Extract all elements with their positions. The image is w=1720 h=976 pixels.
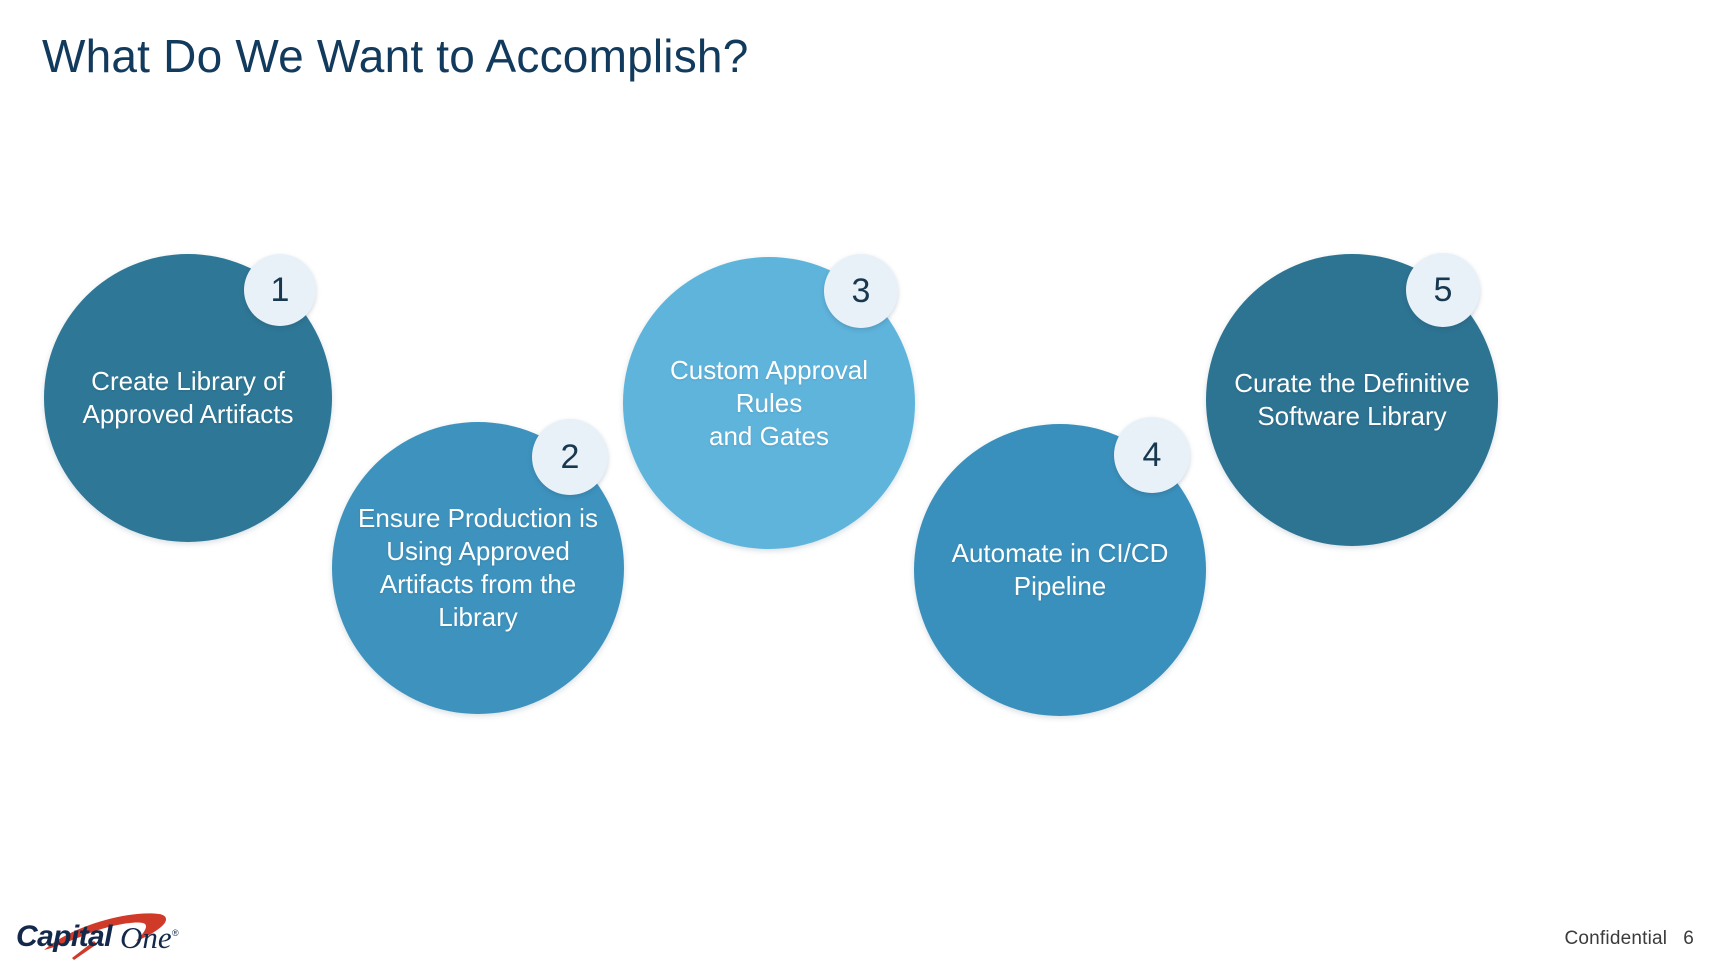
node-2-badge-number: 2 bbox=[561, 438, 580, 477]
node-3-badge-number: 3 bbox=[852, 272, 871, 311]
capital-one-logo: Capital One ® bbox=[14, 900, 214, 962]
diagram-node-2[interactable]: Ensure Production isUsing ApprovedArtifa… bbox=[332, 422, 624, 714]
node-5-badge: 5 bbox=[1406, 253, 1480, 327]
diagram-node-4[interactable]: Automate in CI/CDPipeline 4 bbox=[914, 424, 1206, 716]
numbered-circle-diagram: Create Library ofApproved Artifacts 1 En… bbox=[0, 0, 1720, 880]
svg-text:®: ® bbox=[172, 928, 179, 938]
diagram-node-5[interactable]: Curate the DefinitiveSoftware Library 5 bbox=[1206, 254, 1498, 546]
svg-text:Capital: Capital bbox=[16, 920, 113, 953]
node-4-badge-number: 4 bbox=[1143, 436, 1162, 475]
node-5-badge-number: 5 bbox=[1434, 271, 1453, 310]
confidential-label: Confidential bbox=[1564, 928, 1667, 949]
node-1-badge: 1 bbox=[244, 254, 316, 326]
svg-text:One: One bbox=[120, 920, 172, 955]
page-number: 6 bbox=[1683, 928, 1694, 949]
node-3-badge: 3 bbox=[824, 254, 898, 328]
diagram-node-3[interactable]: Custom Approval Rulesand Gates 3 bbox=[623, 257, 915, 549]
node-1-badge-number: 1 bbox=[271, 271, 290, 310]
diagram-node-1[interactable]: Create Library ofApproved Artifacts 1 bbox=[44, 254, 332, 542]
node-4-badge: 4 bbox=[1114, 417, 1190, 493]
node-2-badge: 2 bbox=[532, 419, 608, 495]
slide-canvas: What Do We Want to Accomplish? Create Li… bbox=[0, 0, 1720, 976]
footer-meta: Confidential6 bbox=[1564, 928, 1694, 950]
